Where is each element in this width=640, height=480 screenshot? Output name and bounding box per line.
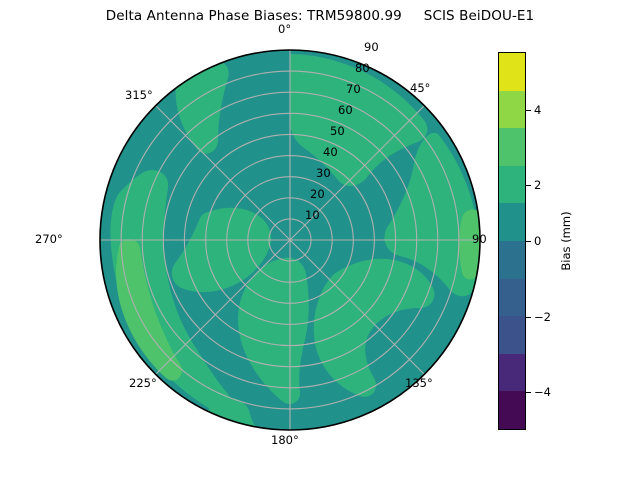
angular-gridlines <box>100 50 480 430</box>
radial-tick-70: 70 <box>346 82 361 96</box>
colorbar-tick-mark-4 <box>526 110 531 111</box>
angular-tick-270: 270° <box>35 232 63 246</box>
colorbar-band-4 <box>499 203 525 241</box>
colorbar-band-1 <box>499 91 525 129</box>
polar-plot-svg <box>98 48 482 432</box>
colorbar-tick-label-4: 4 <box>534 103 541 117</box>
colorbar-tick-label-0: 0 <box>534 234 541 248</box>
colorbar-axis-label: Bias (mm) <box>559 211 573 270</box>
colorbar-tick-mark-2 <box>526 185 531 186</box>
radial-tick-40: 40 <box>323 145 338 159</box>
radial-tick-10: 10 <box>305 208 320 222</box>
radial-tick-50: 50 <box>330 124 345 138</box>
colorbar-tick-label-n2: −2 <box>534 310 551 324</box>
colorbar-tick-mark-0 <box>526 241 531 242</box>
angular-tick-225: 225° <box>129 376 157 390</box>
colorbar-band-7 <box>499 316 525 354</box>
colorbar-band-0 <box>499 53 525 91</box>
angular-tick-45: 45° <box>410 81 430 95</box>
radial-tick-80: 80 <box>355 61 370 75</box>
colorbar-band-8 <box>499 354 525 392</box>
colorbar-tick-label-2: 2 <box>534 178 541 192</box>
radial-tick-20: 20 <box>310 187 325 201</box>
angular-tick-0: 0° <box>278 22 291 36</box>
angular-tick-180: 180° <box>271 433 299 447</box>
colorbar-tick-label-n4: −4 <box>534 385 551 399</box>
colorbar-band-5 <box>499 241 525 279</box>
colorbar-band-3 <box>499 166 525 204</box>
angular-tick-90: 90 <box>472 232 487 246</box>
figure-title: Delta Antenna Phase Biases: TRM59800.99 … <box>0 8 640 24</box>
polar-axes[interactable]: 0° 45° 90 135° 180° 225° 270° 315° 10 20… <box>98 48 482 432</box>
colorbar-band-9 <box>499 391 525 429</box>
figure-canvas: Delta Antenna Phase Biases: TRM59800.99 … <box>0 0 640 480</box>
colorbar-tick-mark-n4 <box>526 392 531 393</box>
colorbar-band-6 <box>499 279 525 317</box>
angular-tick-315: 315° <box>125 88 153 102</box>
colorbar-tick-mark-n2 <box>526 317 531 318</box>
colorbar[interactable]: 4 2 0 −2 −4 <box>498 52 526 430</box>
angular-tick-135: 135° <box>405 376 433 390</box>
radial-tick-60: 60 <box>338 103 353 117</box>
radial-tick-90: 90 <box>364 40 379 54</box>
colorbar-gradient <box>498 52 526 430</box>
colorbar-band-2 <box>499 128 525 166</box>
radial-tick-30: 30 <box>316 166 331 180</box>
